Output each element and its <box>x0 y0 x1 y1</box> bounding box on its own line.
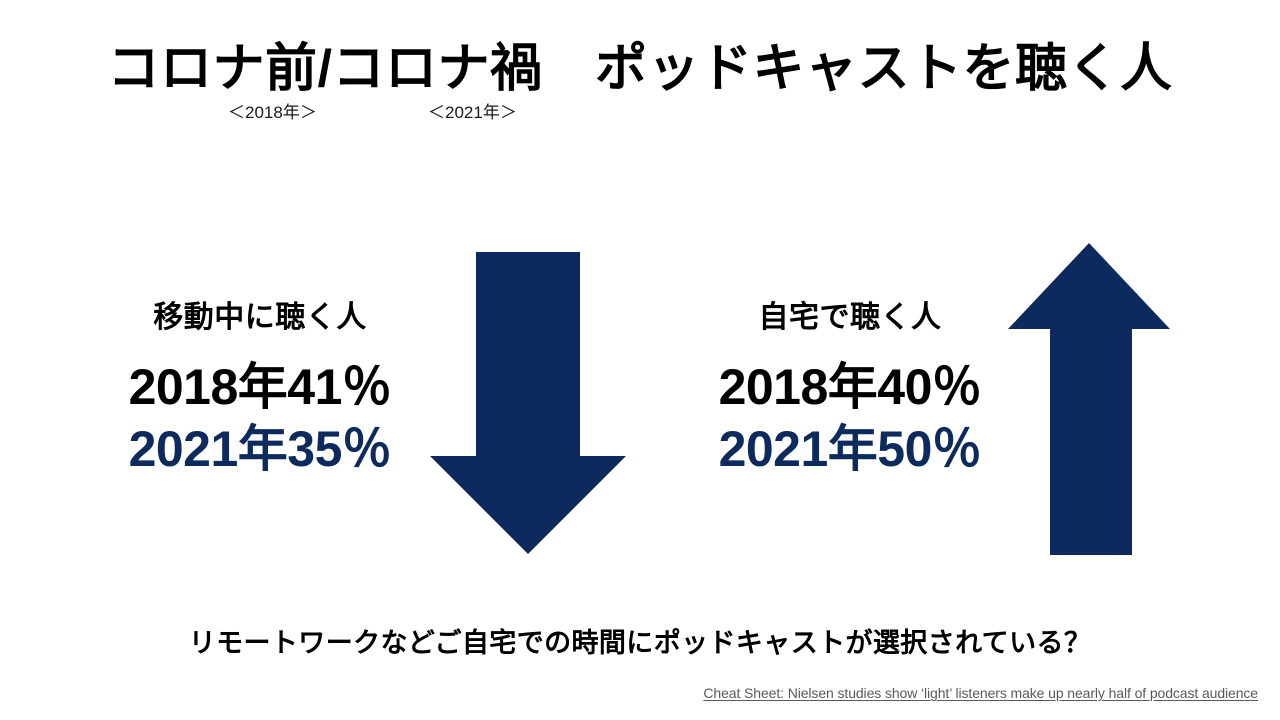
title-block: コロナ前/コロナ禍 ポッドキャストを聴く人 <box>0 40 1280 98</box>
stat-values-home: 2018年40％ 2021年50％ <box>685 356 1015 480</box>
slide-canvas: コロナ前/コロナ禍 ポッドキャストを聴く人 ＜2018年＞ ＜2021年＞ 移動… <box>0 0 1280 720</box>
subtitle-before-year: ＜2018年＞ <box>228 103 317 123</box>
stat-value-home-2018: 2018年40％ <box>685 356 1015 418</box>
source-link[interactable]: Cheat Sheet: Nielsen studies show ‘light… <box>703 684 1258 702</box>
stat-values-commute: 2018年41％ 2021年35％ <box>95 356 425 480</box>
stat-value-commute-2018: 2018年41％ <box>95 356 425 418</box>
stat-group-home: 自宅で聴く人 2018年40％ 2021年50％ <box>685 298 1015 480</box>
page-title: コロナ前/コロナ禍 ポッドキャストを聴く人 <box>108 40 1173 98</box>
bottom-caption: リモートワークなどご自宅での時間にポッドキャストが選択されている？ <box>0 624 1280 662</box>
stat-value-home-2021: 2021年50％ <box>685 418 1015 480</box>
stat-label-home: 自宅で聴く人 <box>685 298 1015 338</box>
stat-value-commute-2021: 2021年35％ <box>95 418 425 480</box>
stat-group-commute: 移動中に聴く人 2018年41％ 2021年35％ <box>95 298 425 480</box>
arrow-down-icon <box>430 252 626 554</box>
stat-label-commute: 移動中に聴く人 <box>95 298 425 338</box>
subtitle-after-year: ＜2021年＞ <box>428 103 517 123</box>
arrow-up-icon <box>1008 243 1170 555</box>
